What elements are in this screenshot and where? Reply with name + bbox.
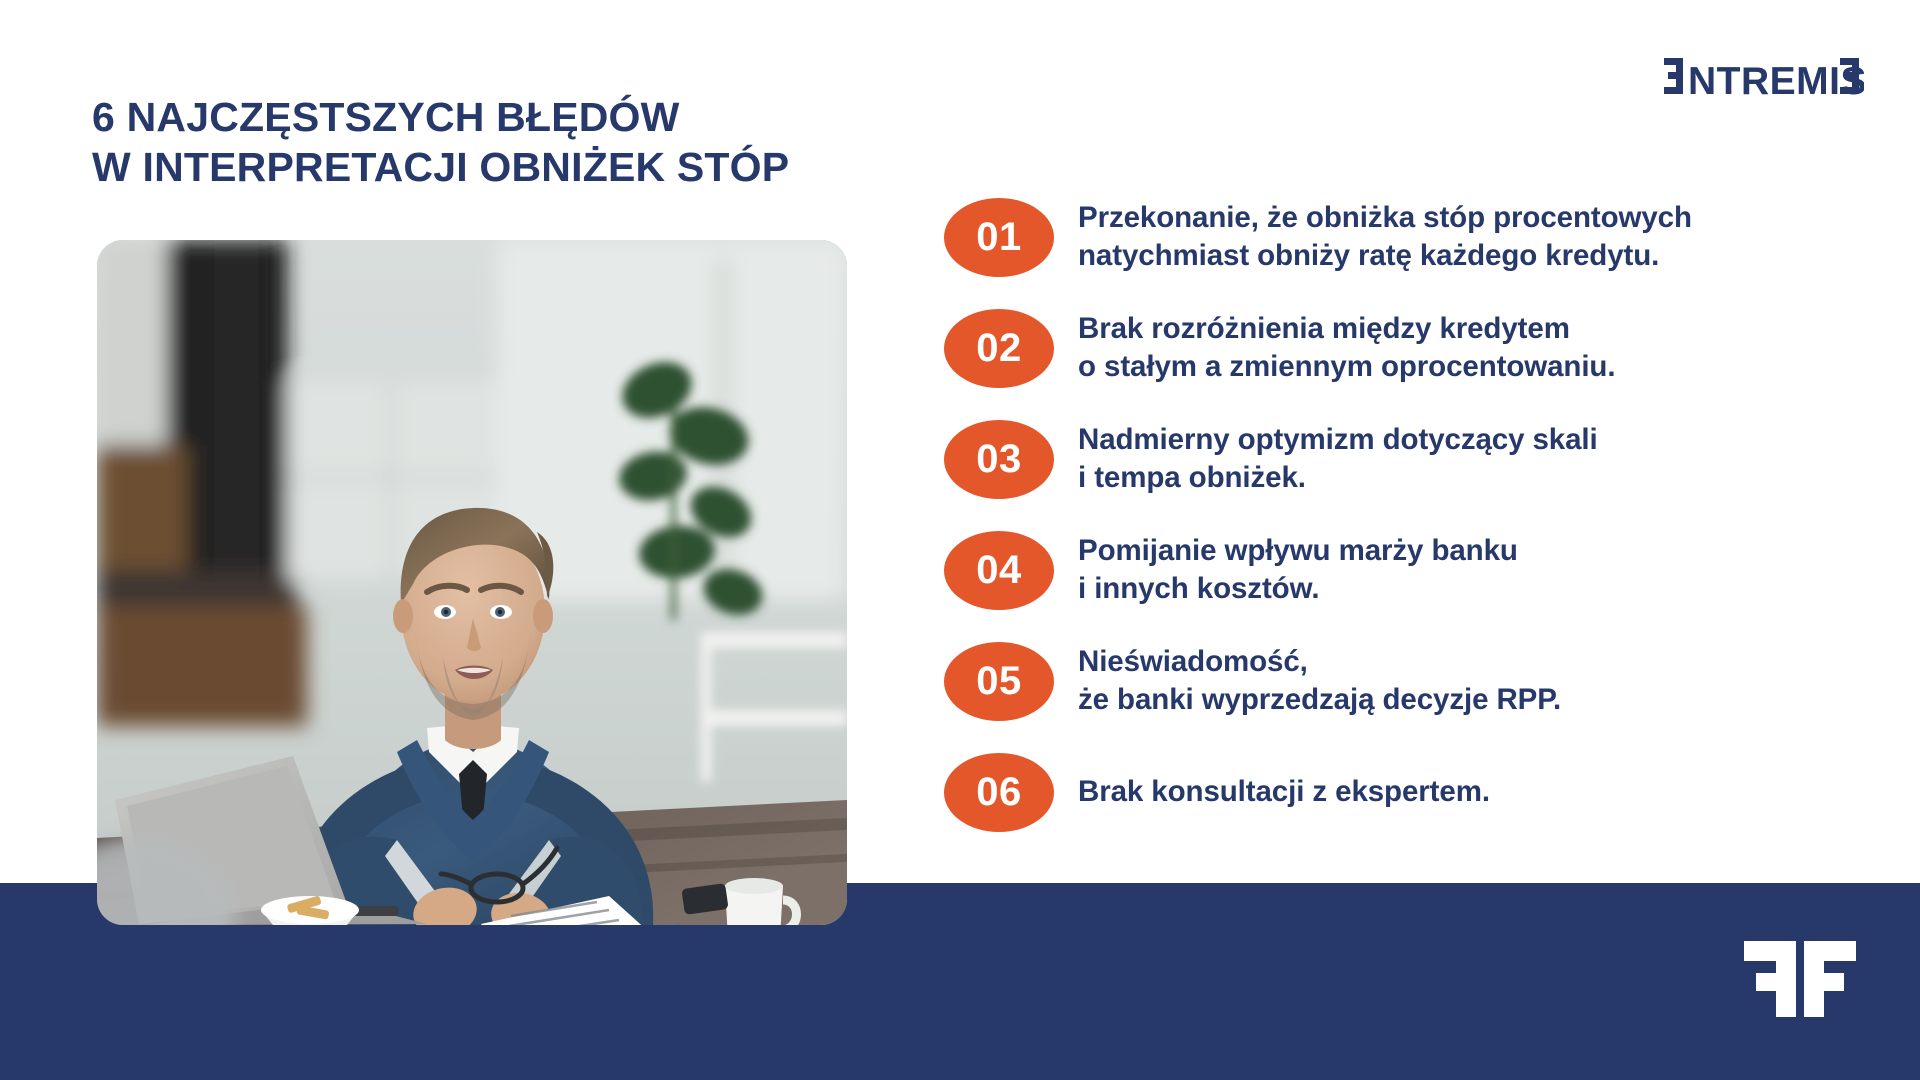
item-number-badge: 01: [944, 198, 1054, 277]
svg-text:NTREMIS: NTREMIS: [1688, 60, 1864, 96]
item-text-line: Brak rozróżnienia między kredytem: [1078, 310, 1615, 348]
infographic-slide: NTREMIS 6 NAJCZĘSTSZYCH BŁĘDÓW W INTERPR…: [0, 0, 1920, 1080]
item-text-line: Nadmierny optymizm dotyczący skali: [1078, 421, 1598, 459]
list-item: 02 Brak rozróżnienia między kredytem o s…: [944, 307, 1874, 418]
item-number-badge: 02: [944, 309, 1054, 388]
item-text-line: że banki wyprzedzają decyzje RPP.: [1078, 681, 1561, 719]
page-title: 6 NAJCZĘSTSZYCH BŁĘDÓW W INTERPRETACJI O…: [92, 92, 912, 192]
item-text-line: Nieświadomość,: [1078, 643, 1561, 681]
item-number-badge: 06: [944, 753, 1054, 832]
list-item: 01 Przekonanie, że obniżka stóp procento…: [944, 196, 1874, 307]
item-text-line: Przekonanie, że obniżka stóp procentowyc…: [1078, 199, 1692, 237]
item-text: Przekonanie, że obniżka stóp procentowyc…: [1078, 196, 1692, 275]
item-number-badge: 04: [944, 531, 1054, 610]
list-item: 05 Nieświadomość, że banki wyprzedzają d…: [944, 640, 1874, 751]
item-text: Brak rozróżnienia między kredytem o stał…: [1078, 307, 1615, 386]
item-text-line: natychmiast obniży ratę każdego kredytu.: [1078, 237, 1692, 275]
brand-wordmark-logo: NTREMIS: [1664, 52, 1864, 100]
item-text-line: Brak konsultacji z ekspertem.: [1078, 773, 1490, 811]
title-line-1: 6 NAJCZĘSTSZYCH BŁĘDÓW: [92, 92, 912, 142]
list-item: 06 Brak konsultacji z ekspertem.: [944, 751, 1874, 862]
item-text: Nadmierny optymizm dotyczący skali i tem…: [1078, 418, 1598, 497]
item-number-badge: 03: [944, 420, 1054, 499]
item-text-line: i tempa obniżek.: [1078, 459, 1598, 497]
item-text: Pomijanie wpływu marży banku i innych ko…: [1078, 529, 1518, 608]
list-item: 04 Pomijanie wpływu marży banku i innych…: [944, 529, 1874, 640]
title-line-2: W INTERPRETACJI OBNIŻEK STÓP: [92, 142, 912, 192]
item-text: Brak konsultacji z ekspertem.: [1078, 751, 1490, 811]
item-text-line: o stałym a zmiennym oprocentowaniu.: [1078, 348, 1615, 386]
brand-monogram-logo: [1742, 925, 1860, 1033]
mistakes-list: 01 Przekonanie, że obniżka stóp procento…: [944, 196, 1874, 862]
item-text: Nieświadomość, że banki wyprzedzają decy…: [1078, 640, 1561, 719]
list-item: 03 Nadmierny optymizm dotyczący skali i …: [944, 418, 1874, 529]
item-number-badge: 05: [944, 642, 1054, 721]
hero-photo: [97, 240, 847, 925]
item-text-line: Pomijanie wpływu marży banku: [1078, 532, 1518, 570]
item-text-line: i innych kosztów.: [1078, 570, 1518, 608]
